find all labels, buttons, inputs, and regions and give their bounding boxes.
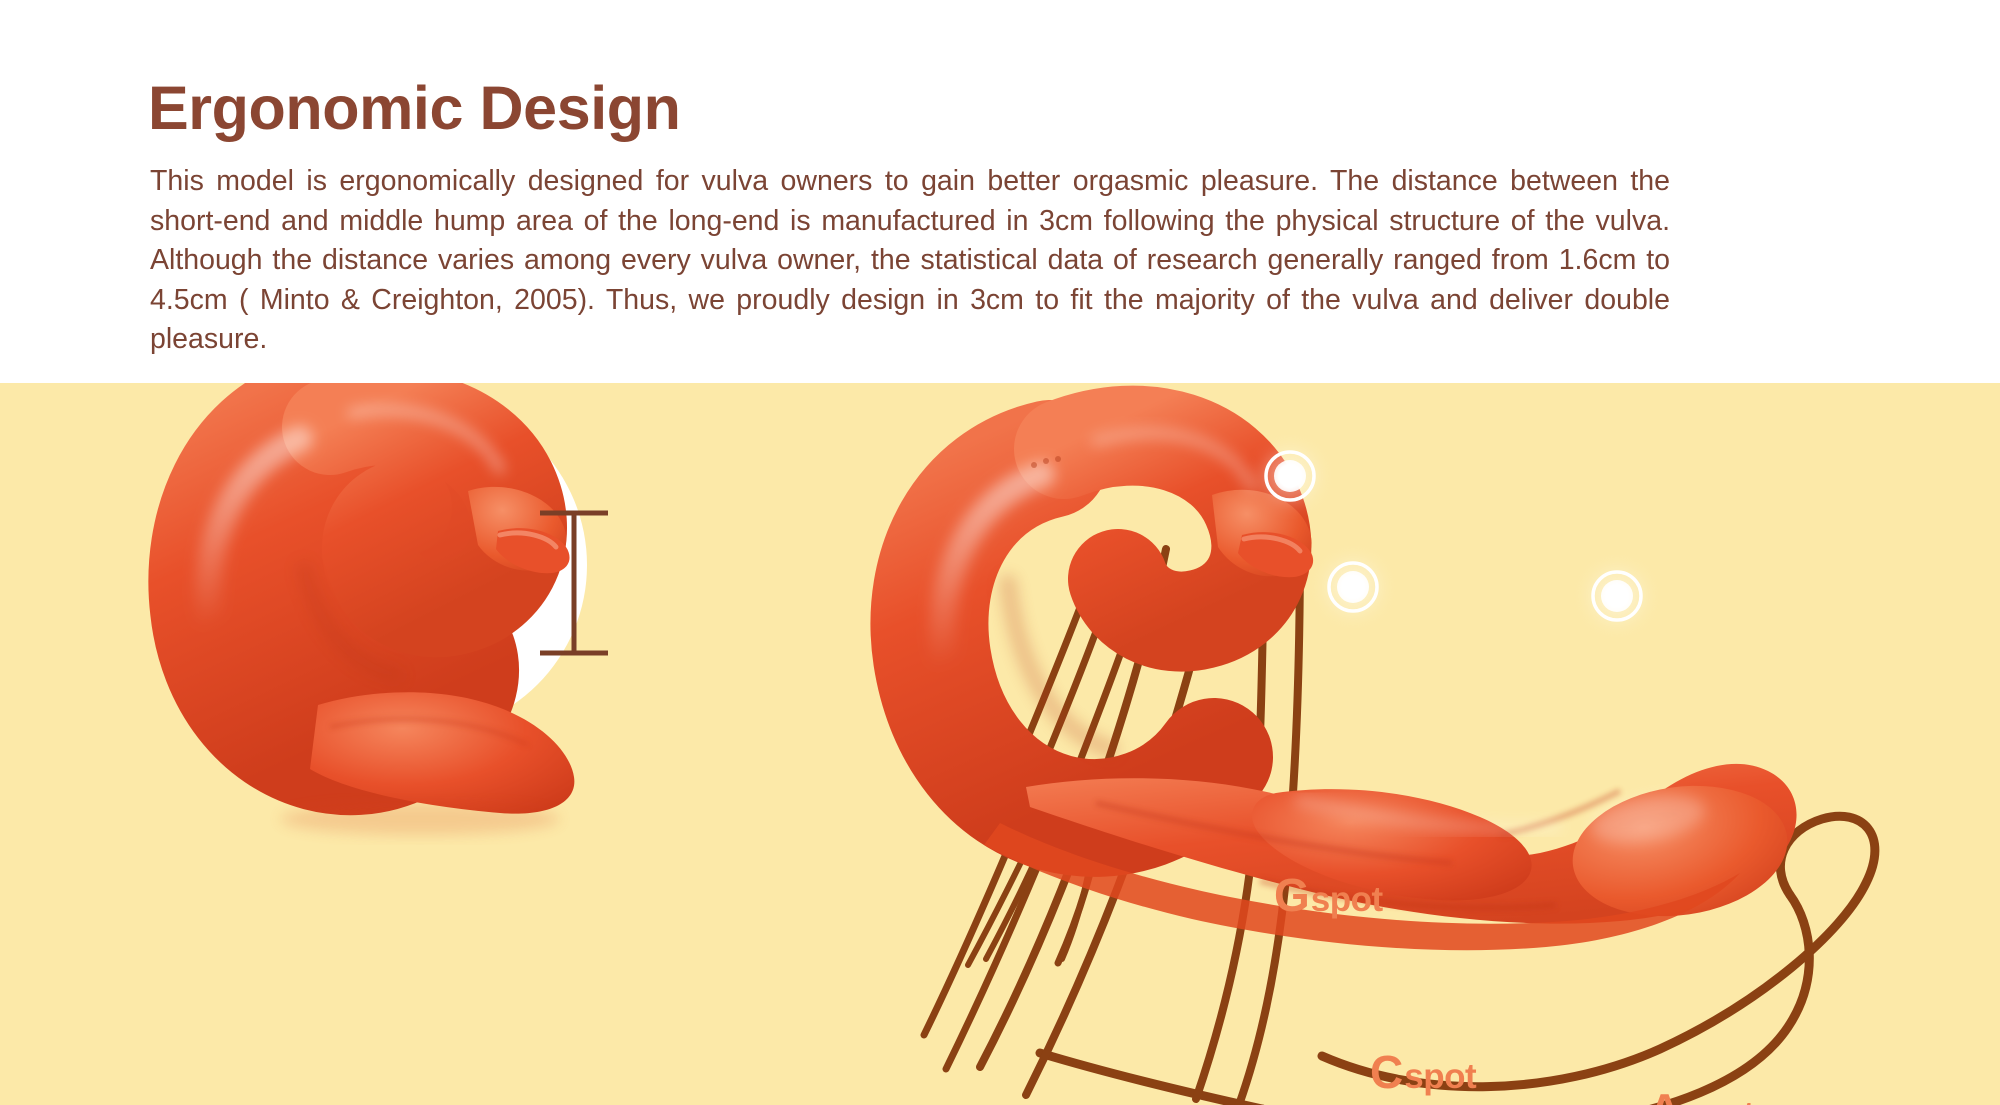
spot-markers <box>1264 450 1643 622</box>
page-title: Ergonomic Design <box>148 78 681 139</box>
marker-g-spot <box>1264 450 1316 502</box>
body-paragraph: This model is ergonomically designed for… <box>150 162 1670 360</box>
left-figure-group <box>204 396 608 835</box>
measurement-label-3cm: 3cm <box>468 1096 575 1105</box>
marker-c-spot <box>1327 561 1379 613</box>
anatomy-curve-lower <box>1040 1053 1262 1105</box>
illustration-canvas <box>0 383 2000 1105</box>
illustration-section: 3cm Gspot Cspot Aspot <box>0 383 2000 1105</box>
right-product <box>929 433 1796 950</box>
marker-a-spot <box>1591 570 1643 622</box>
right-figure-group <box>924 433 1875 1105</box>
header-section: Ergonomic Design This model is ergonomic… <box>0 0 2000 383</box>
left-product <box>204 410 574 835</box>
